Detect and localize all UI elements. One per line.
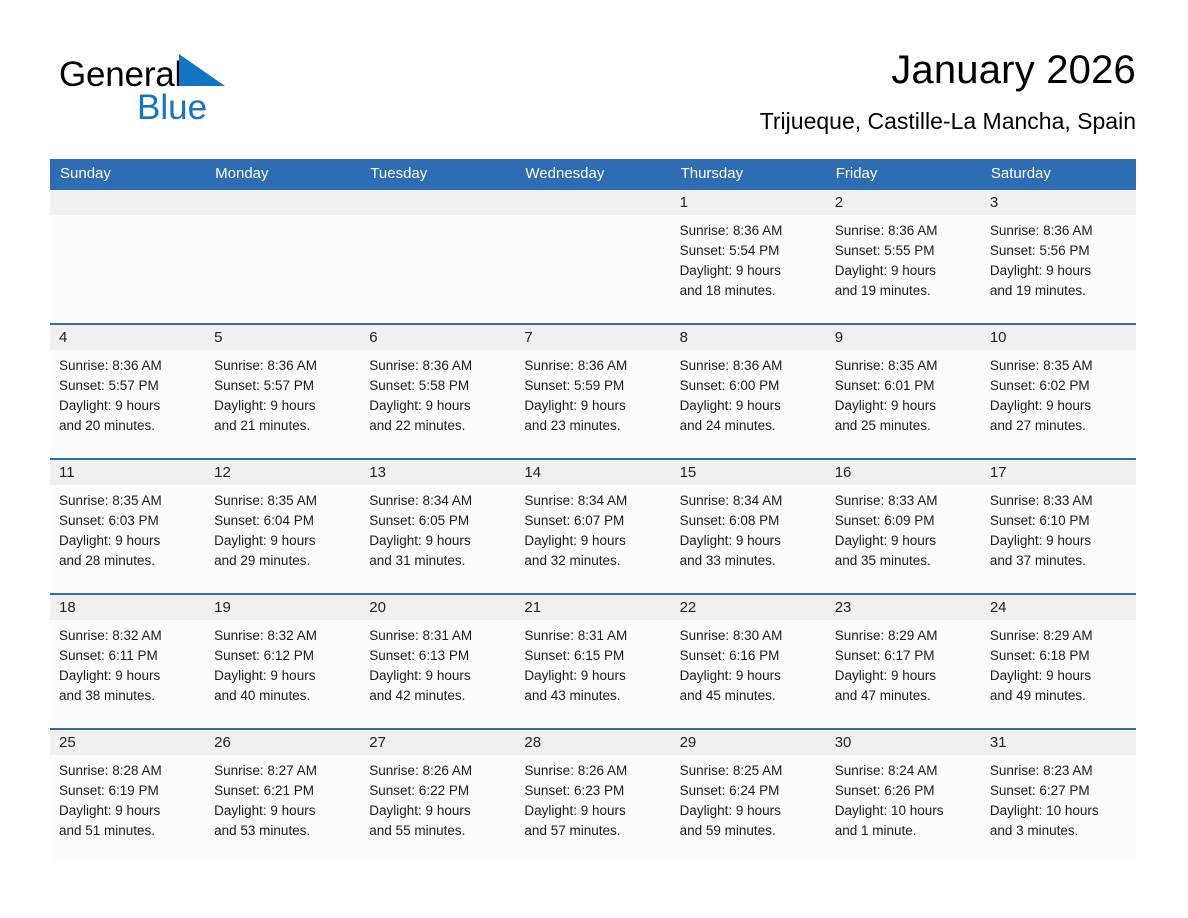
daylight-text-line1: Daylight: 9 hours: [835, 666, 973, 686]
sunrise-text: Sunrise: 8:26 AM: [524, 761, 662, 781]
daylight-text-line1: Daylight: 9 hours: [59, 531, 197, 551]
daylight-text-line2: and 45 minutes.: [680, 686, 818, 706]
day-details: Sunrise: 8:32 AMSunset: 6:12 PMDaylight:…: [205, 620, 360, 706]
day-number: [360, 190, 515, 215]
calendar-day-cell[interactable]: 21Sunrise: 8:31 AMSunset: 6:15 PMDayligh…: [515, 594, 670, 729]
sunrise-text: Sunrise: 8:28 AM: [59, 761, 197, 781]
calendar-day-cell[interactable]: 5Sunrise: 8:36 AMSunset: 5:57 PMDaylight…: [205, 324, 360, 459]
daylight-text-line2: and 47 minutes.: [835, 686, 973, 706]
sunrise-text: Sunrise: 8:34 AM: [369, 491, 507, 511]
calendar-day-cell-empty: [50, 190, 205, 324]
day-number: 26: [205, 730, 360, 755]
calendar-day-cell[interactable]: 15Sunrise: 8:34 AMSunset: 6:08 PMDayligh…: [671, 459, 826, 594]
weekday-header-tuesday: Tuesday: [360, 159, 515, 190]
sunset-text: Sunset: 5:56 PM: [990, 241, 1128, 261]
sunrise-text: Sunrise: 8:33 AM: [990, 491, 1128, 511]
day-number: [50, 190, 205, 215]
weekday-header-wednesday: Wednesday: [515, 159, 670, 190]
sunset-text: Sunset: 6:22 PM: [369, 781, 507, 801]
day-details: Sunrise: 8:36 AMSunset: 6:00 PMDaylight:…: [671, 350, 826, 436]
sunrise-text: Sunrise: 8:24 AM: [835, 761, 973, 781]
calendar-day-cell[interactable]: 8Sunrise: 8:36 AMSunset: 6:00 PMDaylight…: [671, 324, 826, 459]
weekday-header-thursday: Thursday: [671, 159, 826, 190]
daylight-text-line1: Daylight: 9 hours: [990, 396, 1128, 416]
calendar-day-cell[interactable]: 18Sunrise: 8:32 AMSunset: 6:11 PMDayligh…: [50, 594, 205, 729]
sunrise-text: Sunrise: 8:36 AM: [524, 356, 662, 376]
sunrise-text: Sunrise: 8:34 AM: [524, 491, 662, 511]
calendar-day-cell[interactable]: 10Sunrise: 8:35 AMSunset: 6:02 PMDayligh…: [981, 324, 1136, 459]
day-details: Sunrise: 8:29 AMSunset: 6:18 PMDaylight:…: [981, 620, 1136, 706]
daylight-text-line1: Daylight: 9 hours: [214, 666, 352, 686]
sunset-text: Sunset: 6:09 PM: [835, 511, 973, 531]
daylight-text-line1: Daylight: 9 hours: [524, 666, 662, 686]
daylight-text-line1: Daylight: 9 hours: [990, 531, 1128, 551]
sunrise-text: Sunrise: 8:27 AM: [214, 761, 352, 781]
daylight-text-line2: and 49 minutes.: [990, 686, 1128, 706]
day-details: Sunrise: 8:29 AMSunset: 6:17 PMDaylight:…: [826, 620, 981, 706]
day-details: Sunrise: 8:36 AMSunset: 5:54 PMDaylight:…: [671, 215, 826, 301]
calendar-week-row: 11Sunrise: 8:35 AMSunset: 6:03 PMDayligh…: [50, 459, 1136, 594]
sunset-text: Sunset: 5:59 PM: [524, 376, 662, 396]
daylight-text-line2: and 32 minutes.: [524, 551, 662, 571]
calendar-day-cell[interactable]: 29Sunrise: 8:25 AMSunset: 6:24 PMDayligh…: [671, 729, 826, 863]
day-number: 25: [50, 730, 205, 755]
daylight-text-line1: Daylight: 10 hours: [835, 801, 973, 821]
calendar-day-cell[interactable]: 7Sunrise: 8:36 AMSunset: 5:59 PMDaylight…: [515, 324, 670, 459]
sunrise-text: Sunrise: 8:36 AM: [59, 356, 197, 376]
page-header: General Blue January 2026 Trijueque, Cas…: [50, 44, 1136, 144]
calendar-day-cell[interactable]: 12Sunrise: 8:35 AMSunset: 6:04 PMDayligh…: [205, 459, 360, 594]
day-details: Sunrise: 8:25 AMSunset: 6:24 PMDaylight:…: [671, 755, 826, 841]
day-number: 10: [981, 325, 1136, 350]
sunset-text: Sunset: 6:23 PM: [524, 781, 662, 801]
sunset-text: Sunset: 6:00 PM: [680, 376, 818, 396]
day-number: 30: [826, 730, 981, 755]
daylight-text-line2: and 1 minute.: [835, 821, 973, 841]
daylight-text-line2: and 24 minutes.: [680, 416, 818, 436]
day-number: [515, 190, 670, 215]
calendar-day-cell[interactable]: 20Sunrise: 8:31 AMSunset: 6:13 PMDayligh…: [360, 594, 515, 729]
daylight-text-line2: and 25 minutes.: [835, 416, 973, 436]
sunset-text: Sunset: 6:07 PM: [524, 511, 662, 531]
calendar-day-cell[interactable]: 28Sunrise: 8:26 AMSunset: 6:23 PMDayligh…: [515, 729, 670, 863]
day-number: 13: [360, 460, 515, 485]
daylight-text-line1: Daylight: 9 hours: [835, 396, 973, 416]
calendar-day-cell[interactable]: 3Sunrise: 8:36 AMSunset: 5:56 PMDaylight…: [981, 190, 1136, 324]
day-number: 4: [50, 325, 205, 350]
daylight-text-line2: and 55 minutes.: [369, 821, 507, 841]
daylight-text-line2: and 31 minutes.: [369, 551, 507, 571]
sunrise-text: Sunrise: 8:35 AM: [835, 356, 973, 376]
day-number: 2: [826, 190, 981, 215]
daylight-text-line1: Daylight: 9 hours: [990, 261, 1128, 281]
sunset-text: Sunset: 5:57 PM: [214, 376, 352, 396]
day-number: 3: [981, 190, 1136, 215]
day-number: 5: [205, 325, 360, 350]
sunset-text: Sunset: 5:54 PM: [680, 241, 818, 261]
day-details: Sunrise: 8:35 AMSunset: 6:01 PMDaylight:…: [826, 350, 981, 436]
calendar-day-cell[interactable]: 17Sunrise: 8:33 AMSunset: 6:10 PMDayligh…: [981, 459, 1136, 594]
calendar-day-cell[interactable]: 14Sunrise: 8:34 AMSunset: 6:07 PMDayligh…: [515, 459, 670, 594]
day-details: Sunrise: 8:34 AMSunset: 6:05 PMDaylight:…: [360, 485, 515, 571]
sunset-text: Sunset: 6:05 PM: [369, 511, 507, 531]
calendar-body: 1Sunrise: 8:36 AMSunset: 5:54 PMDaylight…: [50, 190, 1136, 863]
daylight-text-line1: Daylight: 10 hours: [990, 801, 1128, 821]
day-number: 29: [671, 730, 826, 755]
daylight-text-line1: Daylight: 9 hours: [680, 261, 818, 281]
sunrise-text: Sunrise: 8:31 AM: [524, 626, 662, 646]
daylight-text-line1: Daylight: 9 hours: [680, 666, 818, 686]
daylight-text-line2: and 23 minutes.: [524, 416, 662, 436]
daylight-text-line2: and 59 minutes.: [680, 821, 818, 841]
day-details: Sunrise: 8:36 AMSunset: 5:57 PMDaylight:…: [205, 350, 360, 436]
daylight-text-line2: and 40 minutes.: [214, 686, 352, 706]
sunset-text: Sunset: 6:18 PM: [990, 646, 1128, 666]
daylight-text-line2: and 35 minutes.: [835, 551, 973, 571]
calendar-day-cell[interactable]: 11Sunrise: 8:35 AMSunset: 6:03 PMDayligh…: [50, 459, 205, 594]
sunrise-text: Sunrise: 8:36 AM: [680, 221, 818, 241]
weekday-header-saturday: Saturday: [981, 159, 1136, 190]
daylight-text-line1: Daylight: 9 hours: [369, 396, 507, 416]
daylight-text-line2: and 3 minutes.: [990, 821, 1128, 841]
calendar-day-cell-empty: [205, 190, 360, 324]
weekday-header-friday: Friday: [826, 159, 981, 190]
sunrise-sunset-calendar-table: Sunday Monday Tuesday Wednesday Thursday…: [50, 159, 1136, 863]
day-details: Sunrise: 8:27 AMSunset: 6:21 PMDaylight:…: [205, 755, 360, 841]
daylight-text-line1: Daylight: 9 hours: [59, 396, 197, 416]
daylight-text-line1: Daylight: 9 hours: [524, 396, 662, 416]
day-details: Sunrise: 8:35 AMSunset: 6:03 PMDaylight:…: [50, 485, 205, 571]
sunset-text: Sunset: 6:01 PM: [835, 376, 973, 396]
day-details: Sunrise: 8:36 AMSunset: 5:56 PMDaylight:…: [981, 215, 1136, 301]
calendar-day-cell[interactable]: 31Sunrise: 8:23 AMSunset: 6:27 PMDayligh…: [981, 729, 1136, 863]
day-number: 9: [826, 325, 981, 350]
calendar-day-cell[interactable]: 27Sunrise: 8:26 AMSunset: 6:22 PMDayligh…: [360, 729, 515, 863]
calendar-day-cell[interactable]: 1Sunrise: 8:36 AMSunset: 5:54 PMDaylight…: [671, 190, 826, 324]
day-details: Sunrise: 8:30 AMSunset: 6:16 PMDaylight:…: [671, 620, 826, 706]
calendar-day-cell[interactable]: 4Sunrise: 8:36 AMSunset: 5:57 PMDaylight…: [50, 324, 205, 459]
day-number: 18: [50, 595, 205, 620]
daylight-text-line2: and 37 minutes.: [990, 551, 1128, 571]
daylight-text-line2: and 38 minutes.: [59, 686, 197, 706]
page-subtitle: Trijueque, Castille-La Mancha, Spain: [760, 106, 1136, 136]
daylight-text-line1: Daylight: 9 hours: [835, 531, 973, 551]
day-number: 27: [360, 730, 515, 755]
sunset-text: Sunset: 5:57 PM: [59, 376, 197, 396]
day-number: 20: [360, 595, 515, 620]
sunrise-text: Sunrise: 8:35 AM: [990, 356, 1128, 376]
sunrise-text: Sunrise: 8:23 AM: [990, 761, 1128, 781]
day-details: Sunrise: 8:33 AMSunset: 6:10 PMDaylight:…: [981, 485, 1136, 571]
sunset-text: Sunset: 6:19 PM: [59, 781, 197, 801]
sunrise-text: Sunrise: 8:32 AM: [59, 626, 197, 646]
sunset-text: Sunset: 6:16 PM: [680, 646, 818, 666]
day-details: Sunrise: 8:31 AMSunset: 6:13 PMDaylight:…: [360, 620, 515, 706]
day-number: 22: [671, 595, 826, 620]
daylight-text-line2: and 42 minutes.: [369, 686, 507, 706]
sunrise-text: Sunrise: 8:31 AM: [369, 626, 507, 646]
day-details: Sunrise: 8:24 AMSunset: 6:26 PMDaylight:…: [826, 755, 981, 841]
daylight-text-line1: Daylight: 9 hours: [214, 801, 352, 821]
daylight-text-line2: and 53 minutes.: [214, 821, 352, 841]
daylight-text-line1: Daylight: 9 hours: [214, 396, 352, 416]
sunrise-text: Sunrise: 8:35 AM: [59, 491, 197, 511]
daylight-text-line1: Daylight: 9 hours: [369, 531, 507, 551]
sunset-text: Sunset: 6:03 PM: [59, 511, 197, 531]
calendar-day-cell[interactable]: 9Sunrise: 8:35 AMSunset: 6:01 PMDaylight…: [826, 324, 981, 459]
calendar-day-cell[interactable]: 19Sunrise: 8:32 AMSunset: 6:12 PMDayligh…: [205, 594, 360, 729]
sunrise-text: Sunrise: 8:34 AM: [680, 491, 818, 511]
calendar-header-row: Sunday Monday Tuesday Wednesday Thursday…: [50, 159, 1136, 190]
calendar-day-cell[interactable]: 26Sunrise: 8:27 AMSunset: 6:21 PMDayligh…: [205, 729, 360, 863]
sunset-text: Sunset: 6:13 PM: [369, 646, 507, 666]
calendar-day-cell[interactable]: 30Sunrise: 8:24 AMSunset: 6:26 PMDayligh…: [826, 729, 981, 863]
daylight-text-line2: and 57 minutes.: [524, 821, 662, 841]
daylight-text-line1: Daylight: 9 hours: [214, 531, 352, 551]
day-number: 21: [515, 595, 670, 620]
sunrise-text: Sunrise: 8:26 AM: [369, 761, 507, 781]
day-details: Sunrise: 8:32 AMSunset: 6:11 PMDaylight:…: [50, 620, 205, 706]
daylight-text-line2: and 28 minutes.: [59, 551, 197, 571]
sunset-text: Sunset: 5:55 PM: [835, 241, 973, 261]
day-number: 15: [671, 460, 826, 485]
day-number: 16: [826, 460, 981, 485]
daylight-text-line2: and 19 minutes.: [990, 281, 1128, 301]
calendar-page: General Blue January 2026 Trijueque, Cas…: [0, 0, 1188, 918]
weekday-header-sunday: Sunday: [50, 159, 205, 190]
daylight-text-line2: and 29 minutes.: [214, 551, 352, 571]
sunset-text: Sunset: 6:04 PM: [214, 511, 352, 531]
daylight-text-line2: and 22 minutes.: [369, 416, 507, 436]
calendar-day-cell[interactable]: 24Sunrise: 8:29 AMSunset: 6:18 PMDayligh…: [981, 594, 1136, 729]
day-details: Sunrise: 8:34 AMSunset: 6:08 PMDaylight:…: [671, 485, 826, 571]
sunrise-text: Sunrise: 8:33 AM: [835, 491, 973, 511]
day-number: 24: [981, 595, 1136, 620]
day-number: 8: [671, 325, 826, 350]
daylight-text-line2: and 19 minutes.: [835, 281, 973, 301]
calendar-day-cell-empty: [515, 190, 670, 324]
daylight-text-line1: Daylight: 9 hours: [990, 666, 1128, 686]
day-number: 6: [360, 325, 515, 350]
calendar-week-row: 18Sunrise: 8:32 AMSunset: 6:11 PMDayligh…: [50, 594, 1136, 729]
day-details: Sunrise: 8:33 AMSunset: 6:09 PMDaylight:…: [826, 485, 981, 571]
sunrise-text: Sunrise: 8:29 AM: [835, 626, 973, 646]
day-details: Sunrise: 8:35 AMSunset: 6:02 PMDaylight:…: [981, 350, 1136, 436]
sunset-text: Sunset: 6:27 PM: [990, 781, 1128, 801]
page-title: January 2026: [891, 44, 1136, 96]
calendar-week-row: 1Sunrise: 8:36 AMSunset: 5:54 PMDaylight…: [50, 190, 1136, 324]
day-number: 1: [671, 190, 826, 215]
day-details: Sunrise: 8:23 AMSunset: 6:27 PMDaylight:…: [981, 755, 1136, 841]
sunset-text: Sunset: 6:26 PM: [835, 781, 973, 801]
day-number: 23: [826, 595, 981, 620]
weekday-header-monday: Monday: [205, 159, 360, 190]
day-details: Sunrise: 8:36 AMSunset: 5:55 PMDaylight:…: [826, 215, 981, 301]
calendar-day-cell[interactable]: 23Sunrise: 8:29 AMSunset: 6:17 PMDayligh…: [826, 594, 981, 729]
sunset-text: Sunset: 6:24 PM: [680, 781, 818, 801]
day-number: 31: [981, 730, 1136, 755]
day-details: Sunrise: 8:35 AMSunset: 6:04 PMDaylight:…: [205, 485, 360, 571]
logo-triangle-icon: [179, 54, 225, 91]
daylight-text-line2: and 20 minutes.: [59, 416, 197, 436]
day-number: 7: [515, 325, 670, 350]
calendar-day-cell[interactable]: 13Sunrise: 8:34 AMSunset: 6:05 PMDayligh…: [360, 459, 515, 594]
day-number: 28: [515, 730, 670, 755]
daylight-text-line1: Daylight: 9 hours: [680, 801, 818, 821]
logo-text-blue: Blue: [137, 88, 207, 128]
calendar-week-row: 25Sunrise: 8:28 AMSunset: 6:19 PMDayligh…: [50, 729, 1136, 863]
sunset-text: Sunset: 6:17 PM: [835, 646, 973, 666]
daylight-text-line1: Daylight: 9 hours: [369, 801, 507, 821]
calendar-day-cell[interactable]: 2Sunrise: 8:36 AMSunset: 5:55 PMDaylight…: [826, 190, 981, 324]
daylight-text-line1: Daylight: 9 hours: [680, 531, 818, 551]
day-number: [205, 190, 360, 215]
daylight-text-line1: Daylight: 9 hours: [524, 801, 662, 821]
generalblue-logo[interactable]: General Blue: [59, 54, 319, 132]
calendar-week-row: 4Sunrise: 8:36 AMSunset: 5:57 PMDaylight…: [50, 324, 1136, 459]
sunrise-text: Sunrise: 8:36 AM: [214, 356, 352, 376]
sunrise-text: Sunrise: 8:29 AM: [990, 626, 1128, 646]
sunset-text: Sunset: 6:08 PM: [680, 511, 818, 531]
sunrise-text: Sunrise: 8:36 AM: [680, 356, 818, 376]
day-details: Sunrise: 8:34 AMSunset: 6:07 PMDaylight:…: [515, 485, 670, 571]
day-number: 19: [205, 595, 360, 620]
sunset-text: Sunset: 6:11 PM: [59, 646, 197, 666]
sunset-text: Sunset: 6:02 PM: [990, 376, 1128, 396]
sunset-text: Sunset: 6:10 PM: [990, 511, 1128, 531]
day-number: 12: [205, 460, 360, 485]
day-number: 14: [515, 460, 670, 485]
sunset-text: Sunset: 6:12 PM: [214, 646, 352, 666]
day-details: Sunrise: 8:26 AMSunset: 6:23 PMDaylight:…: [515, 755, 670, 841]
day-details: Sunrise: 8:36 AMSunset: 5:58 PMDaylight:…: [360, 350, 515, 436]
sunrise-text: Sunrise: 8:32 AM: [214, 626, 352, 646]
sunrise-text: Sunrise: 8:36 AM: [369, 356, 507, 376]
daylight-text-line2: and 33 minutes.: [680, 551, 818, 571]
daylight-text-line1: Daylight: 9 hours: [835, 261, 973, 281]
daylight-text-line2: and 27 minutes.: [990, 416, 1128, 436]
day-details: Sunrise: 8:31 AMSunset: 6:15 PMDaylight:…: [515, 620, 670, 706]
day-details: Sunrise: 8:28 AMSunset: 6:19 PMDaylight:…: [50, 755, 205, 841]
daylight-text-line1: Daylight: 9 hours: [369, 666, 507, 686]
sunrise-text: Sunrise: 8:36 AM: [835, 221, 973, 241]
daylight-text-line2: and 18 minutes.: [680, 281, 818, 301]
daylight-text-line1: Daylight: 9 hours: [680, 396, 818, 416]
day-details: Sunrise: 8:36 AMSunset: 5:57 PMDaylight:…: [50, 350, 205, 436]
sunset-text: Sunset: 5:58 PM: [369, 376, 507, 396]
sunrise-text: Sunrise: 8:25 AM: [680, 761, 818, 781]
calendar-day-cell[interactable]: 6Sunrise: 8:36 AMSunset: 5:58 PMDaylight…: [360, 324, 515, 459]
sunrise-text: Sunrise: 8:35 AM: [214, 491, 352, 511]
calendar-day-cell[interactable]: 22Sunrise: 8:30 AMSunset: 6:16 PMDayligh…: [671, 594, 826, 729]
day-details: Sunrise: 8:36 AMSunset: 5:59 PMDaylight:…: [515, 350, 670, 436]
daylight-text-line2: and 51 minutes.: [59, 821, 197, 841]
calendar-day-cell-empty: [360, 190, 515, 324]
day-number: 11: [50, 460, 205, 485]
calendar-day-cell[interactable]: 16Sunrise: 8:33 AMSunset: 6:09 PMDayligh…: [826, 459, 981, 594]
daylight-text-line1: Daylight: 9 hours: [524, 531, 662, 551]
sunrise-text: Sunrise: 8:36 AM: [990, 221, 1128, 241]
sunset-text: Sunset: 6:21 PM: [214, 781, 352, 801]
daylight-text-line1: Daylight: 9 hours: [59, 666, 197, 686]
daylight-text-line1: Daylight: 9 hours: [59, 801, 197, 821]
calendar-day-cell[interactable]: 25Sunrise: 8:28 AMSunset: 6:19 PMDayligh…: [50, 729, 205, 863]
sunrise-text: Sunrise: 8:30 AM: [680, 626, 818, 646]
sunset-text: Sunset: 6:15 PM: [524, 646, 662, 666]
day-details: Sunrise: 8:26 AMSunset: 6:22 PMDaylight:…: [360, 755, 515, 841]
day-number: 17: [981, 460, 1136, 485]
daylight-text-line2: and 21 minutes.: [214, 416, 352, 436]
daylight-text-line2: and 43 minutes.: [524, 686, 662, 706]
